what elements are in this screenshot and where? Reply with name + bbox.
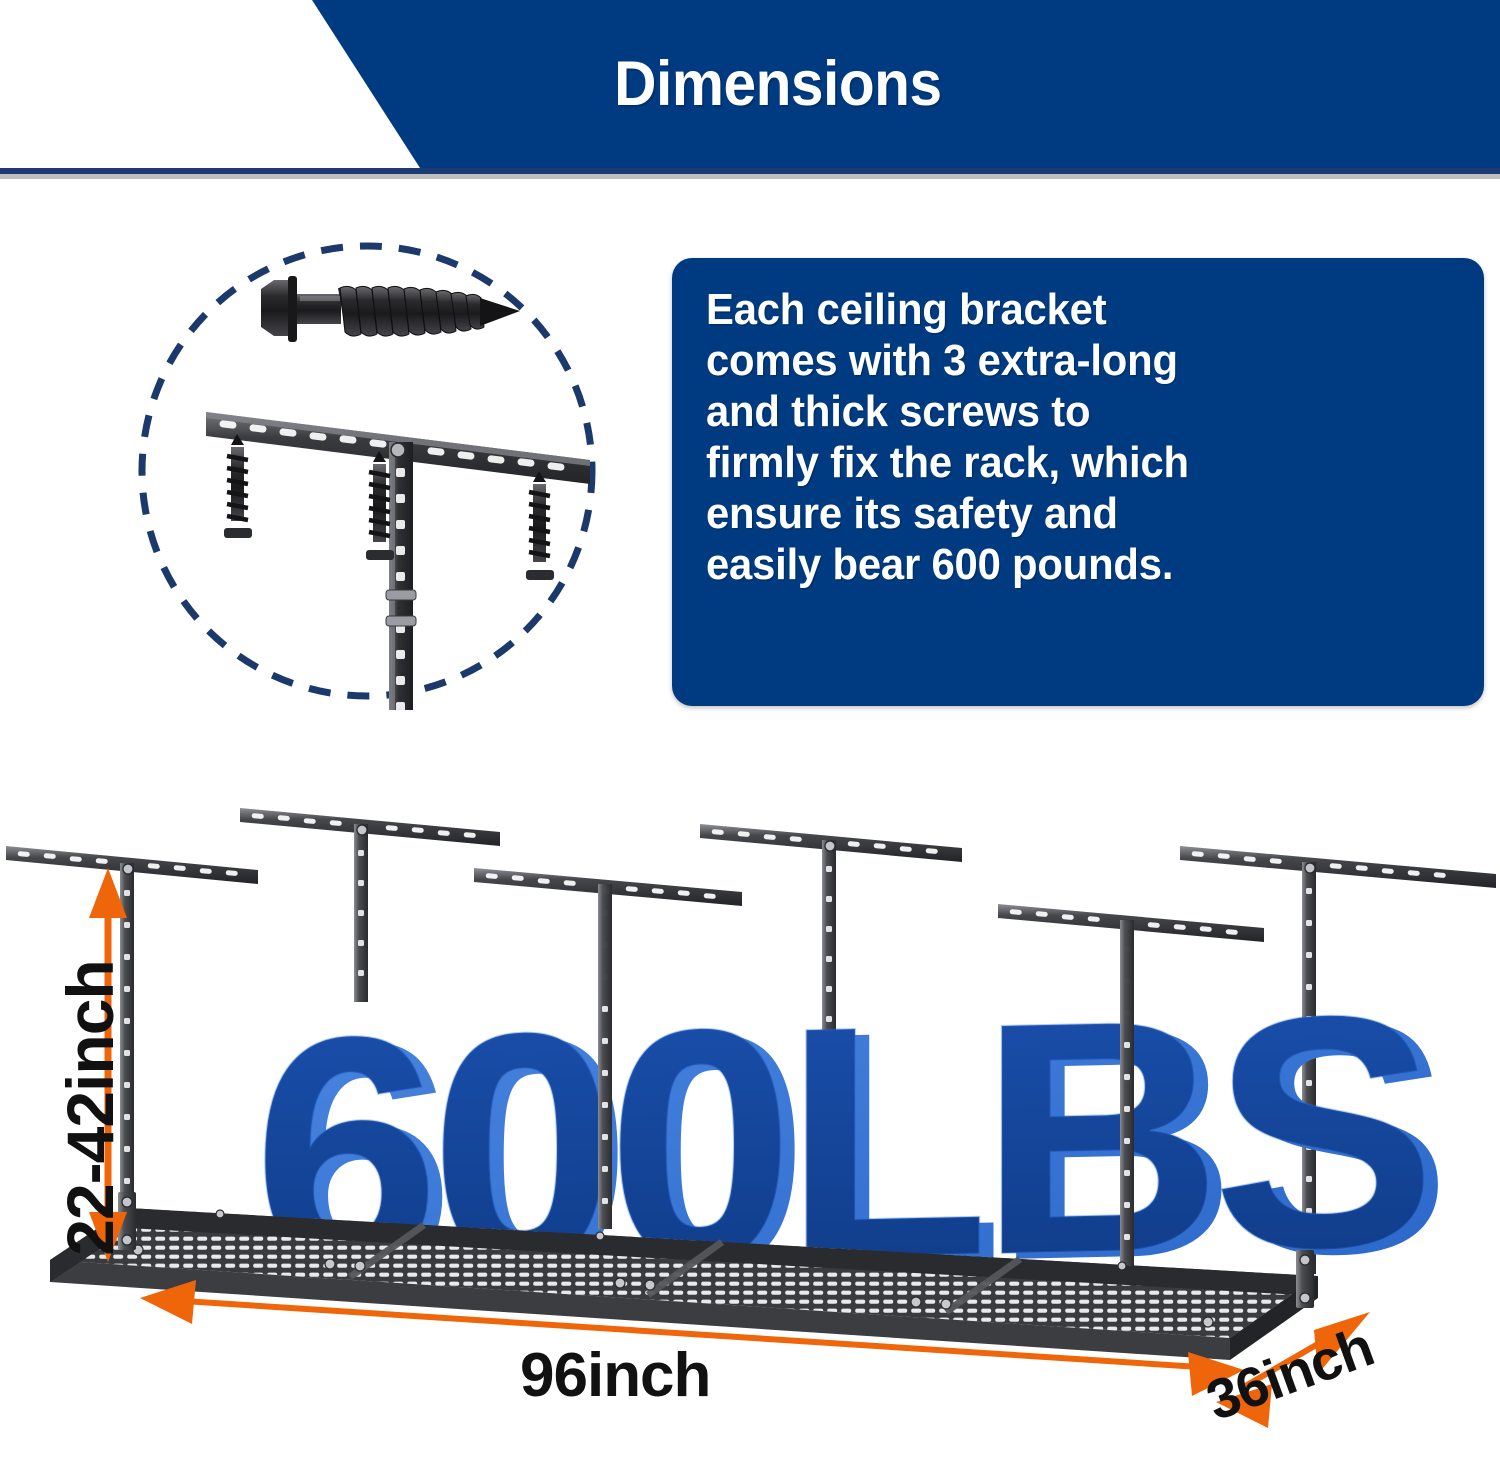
header-divider-shadow [0, 174, 1500, 179]
bracket-screw-left [224, 434, 252, 538]
height-dimension-label: 22-42inch [52, 958, 128, 1258]
infographic-canvas: Dimensions [0, 0, 1500, 1457]
screw-detail-callout [128, 232, 606, 710]
info-line: and thick screws to [706, 386, 1417, 437]
ceiling-bracket-1 [6, 846, 258, 1206]
screw-threads [340, 286, 484, 336]
t-bracket-with-screws-icon [206, 412, 590, 710]
info-line: comes with 3 extra-long [706, 335, 1417, 386]
bracket-screw-right [526, 471, 554, 580]
info-line: Each ceiling bracket [706, 284, 1417, 335]
hex-head-lag-screw-icon [261, 276, 520, 342]
page-title: Dimensions [53, 0, 1448, 168]
header-banner: Dimensions [0, 0, 1500, 168]
info-line: firmly fix the rack, which [706, 437, 1417, 488]
info-callout-box: Each ceiling bracket comes with 3 extra-… [672, 258, 1484, 706]
info-callout-text: Each ceiling bracket comes with 3 extra-… [706, 284, 1417, 590]
info-line: ensure its safety and [706, 488, 1417, 539]
info-line: easily bear 600 pounds. [706, 539, 1417, 590]
width-dimension-label: 96inch [520, 1340, 710, 1411]
